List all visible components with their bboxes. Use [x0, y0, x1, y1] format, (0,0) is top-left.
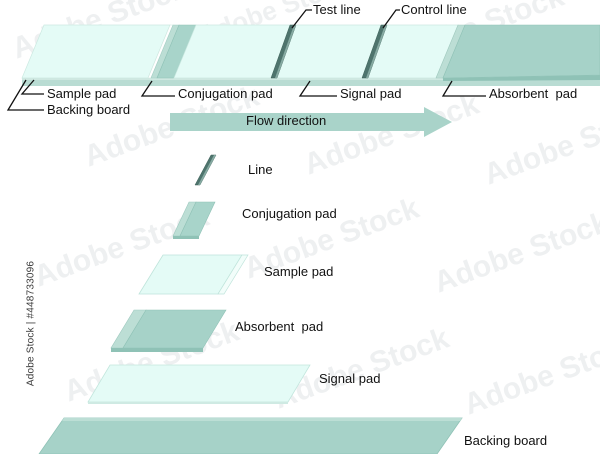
label-control-line: Control line: [401, 3, 467, 16]
label-exploded-backing-board: Backing board: [464, 434, 547, 447]
exploded-line: [195, 155, 216, 185]
figure-canvas: Adobe Stock Adobe Stock Adobe Stock Adob…: [0, 0, 600, 454]
label-exploded-conjugation-pad: Conjugation pad: [242, 207, 337, 220]
label-exploded-sample-pad: Sample pad: [264, 265, 333, 278]
label-conjugation-pad: Conjugation pad: [178, 87, 273, 100]
label-exploded-line: Line: [248, 163, 273, 176]
exploded-sample-pad: [139, 255, 248, 294]
assembled-absorbent-pad: [436, 25, 600, 81]
label-exploded-signal-pad: Signal pad: [319, 372, 380, 385]
assembled-signal-pad: [174, 25, 458, 78]
watermark-stock-id: Adobe Stock | #448733096: [26, 259, 37, 389]
label-exploded-absorbent-pad: Absorbent pad: [235, 320, 323, 333]
label-sample-pad: Sample pad: [47, 87, 116, 100]
label-flow-direction: Flow direction: [246, 114, 326, 127]
assembled-sample-pad: [22, 25, 170, 78]
exploded-view: [39, 155, 462, 454]
exploded-conjugation-pad: [173, 202, 215, 239]
label-signal-pad: Signal pad: [340, 87, 401, 100]
exploded-signal-pad: [88, 365, 310, 404]
label-backing-board: Backing board: [47, 103, 130, 116]
label-test-line: Test line: [313, 3, 361, 16]
lfa-strip-diagram: [0, 0, 600, 454]
exploded-backing-board: [39, 418, 462, 454]
exploded-absorbent-pad: [111, 310, 226, 352]
label-absorbent-pad: Absorbent pad: [489, 87, 577, 100]
